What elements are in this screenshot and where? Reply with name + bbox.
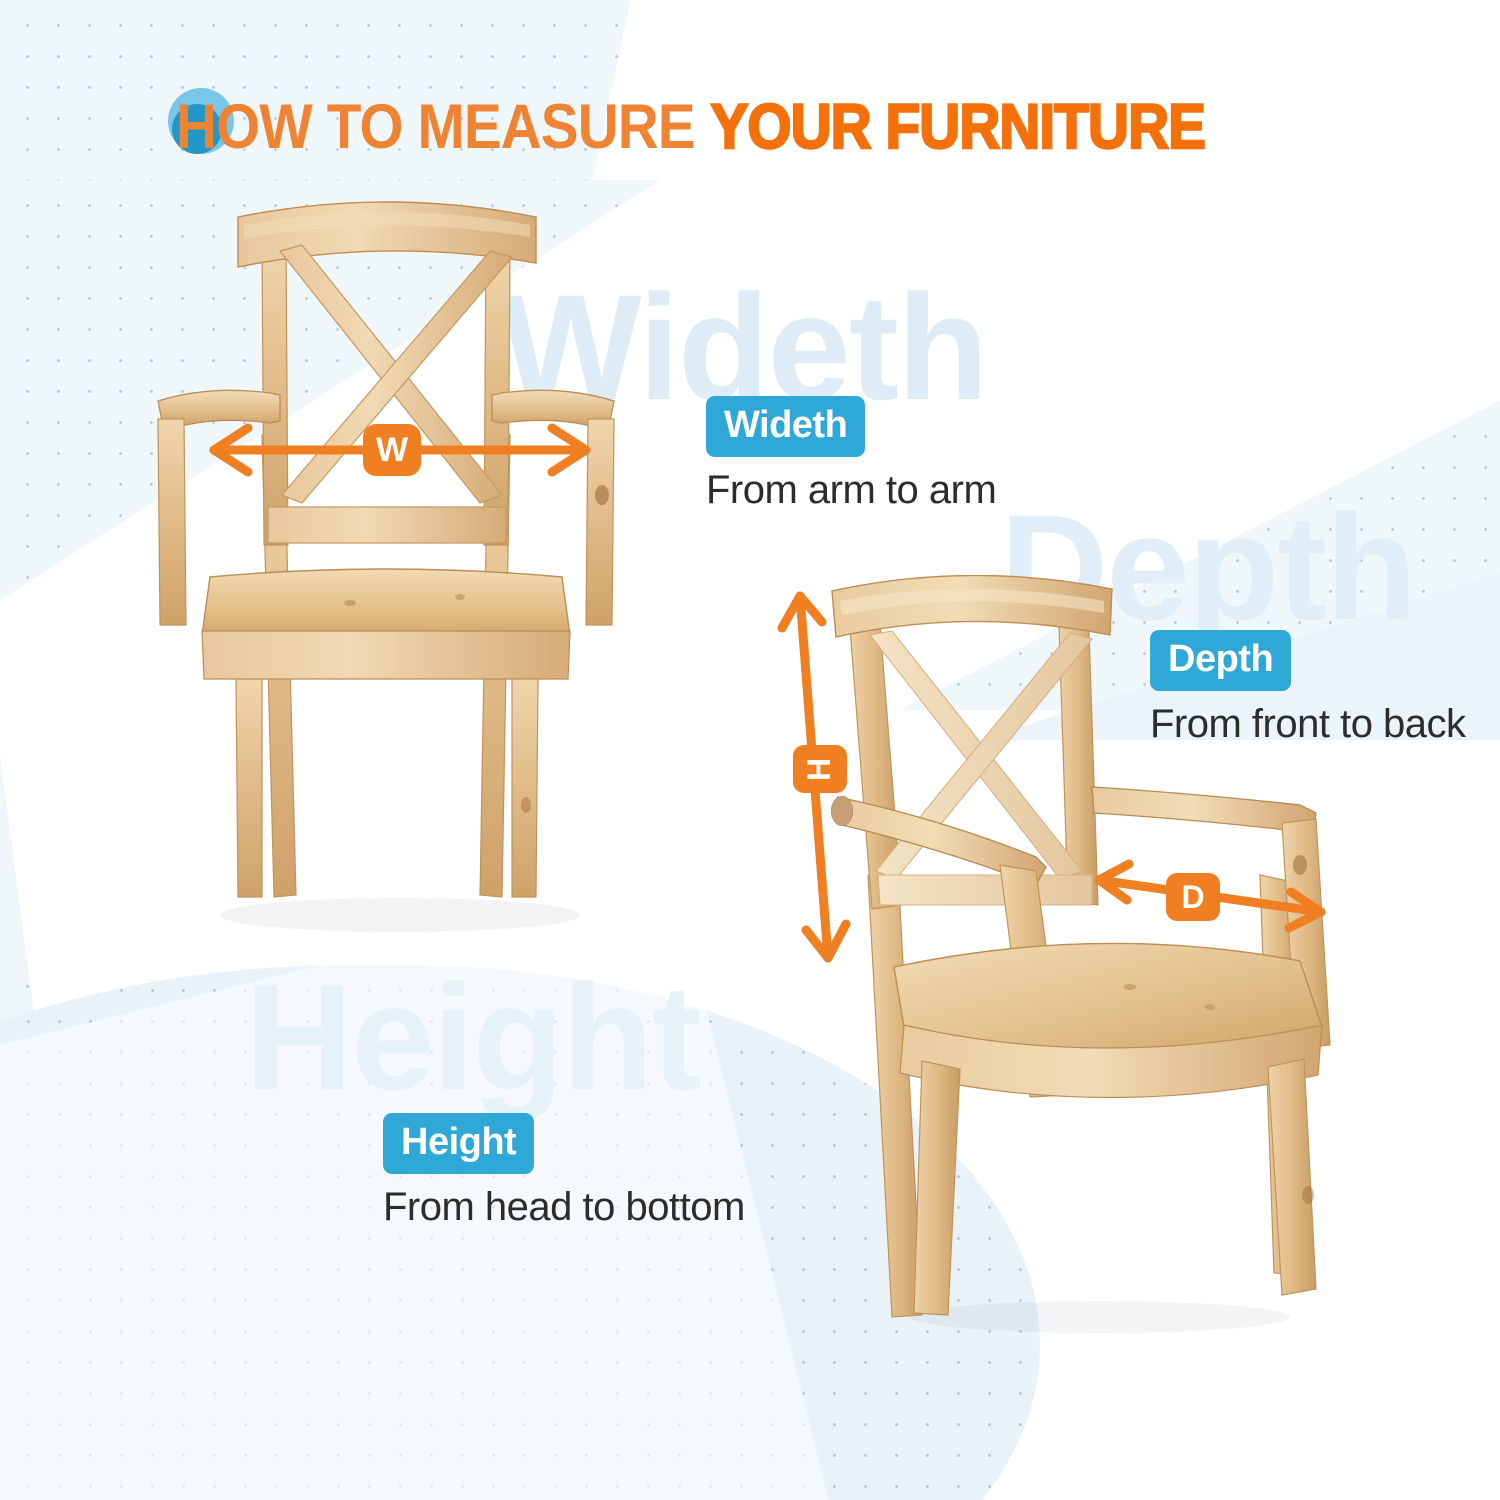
front-chair-illustration bbox=[150, 195, 630, 935]
page-title-part-one: HOW TO MEASURE bbox=[176, 92, 695, 162]
depth-description: From front to back bbox=[1150, 702, 1466, 747]
page-title: HOW TO MEASURE YOUR FURNITURE bbox=[176, 96, 1205, 159]
page-title-part-two: YOUR FURNITURE bbox=[710, 92, 1205, 162]
height-description: From head to bottom bbox=[383, 1185, 745, 1230]
width-description: From arm to arm bbox=[706, 468, 996, 513]
infographic-canvas: Wideth Depth Height HOW TO MEASURE YOUR … bbox=[0, 0, 1500, 1500]
depth-marker-label: D bbox=[1181, 879, 1204, 916]
width-label-block: Wideth From arm to arm bbox=[706, 396, 996, 513]
width-marker-badge: W bbox=[363, 424, 421, 476]
watermark-height: Height bbox=[245, 962, 700, 1112]
height-label-block: Height From head to bottom bbox=[383, 1113, 745, 1230]
depth-badge: Depth bbox=[1150, 630, 1291, 691]
depth-label-block: Depth From front to back bbox=[1150, 630, 1466, 747]
width-badge: Wideth bbox=[706, 396, 865, 457]
depth-marker-badge: D bbox=[1166, 873, 1220, 921]
height-badge: Height bbox=[383, 1113, 534, 1174]
width-marker-label: W bbox=[376, 431, 408, 470]
height-marker-badge: H bbox=[793, 745, 847, 793]
height-marker-label: H bbox=[801, 757, 838, 780]
